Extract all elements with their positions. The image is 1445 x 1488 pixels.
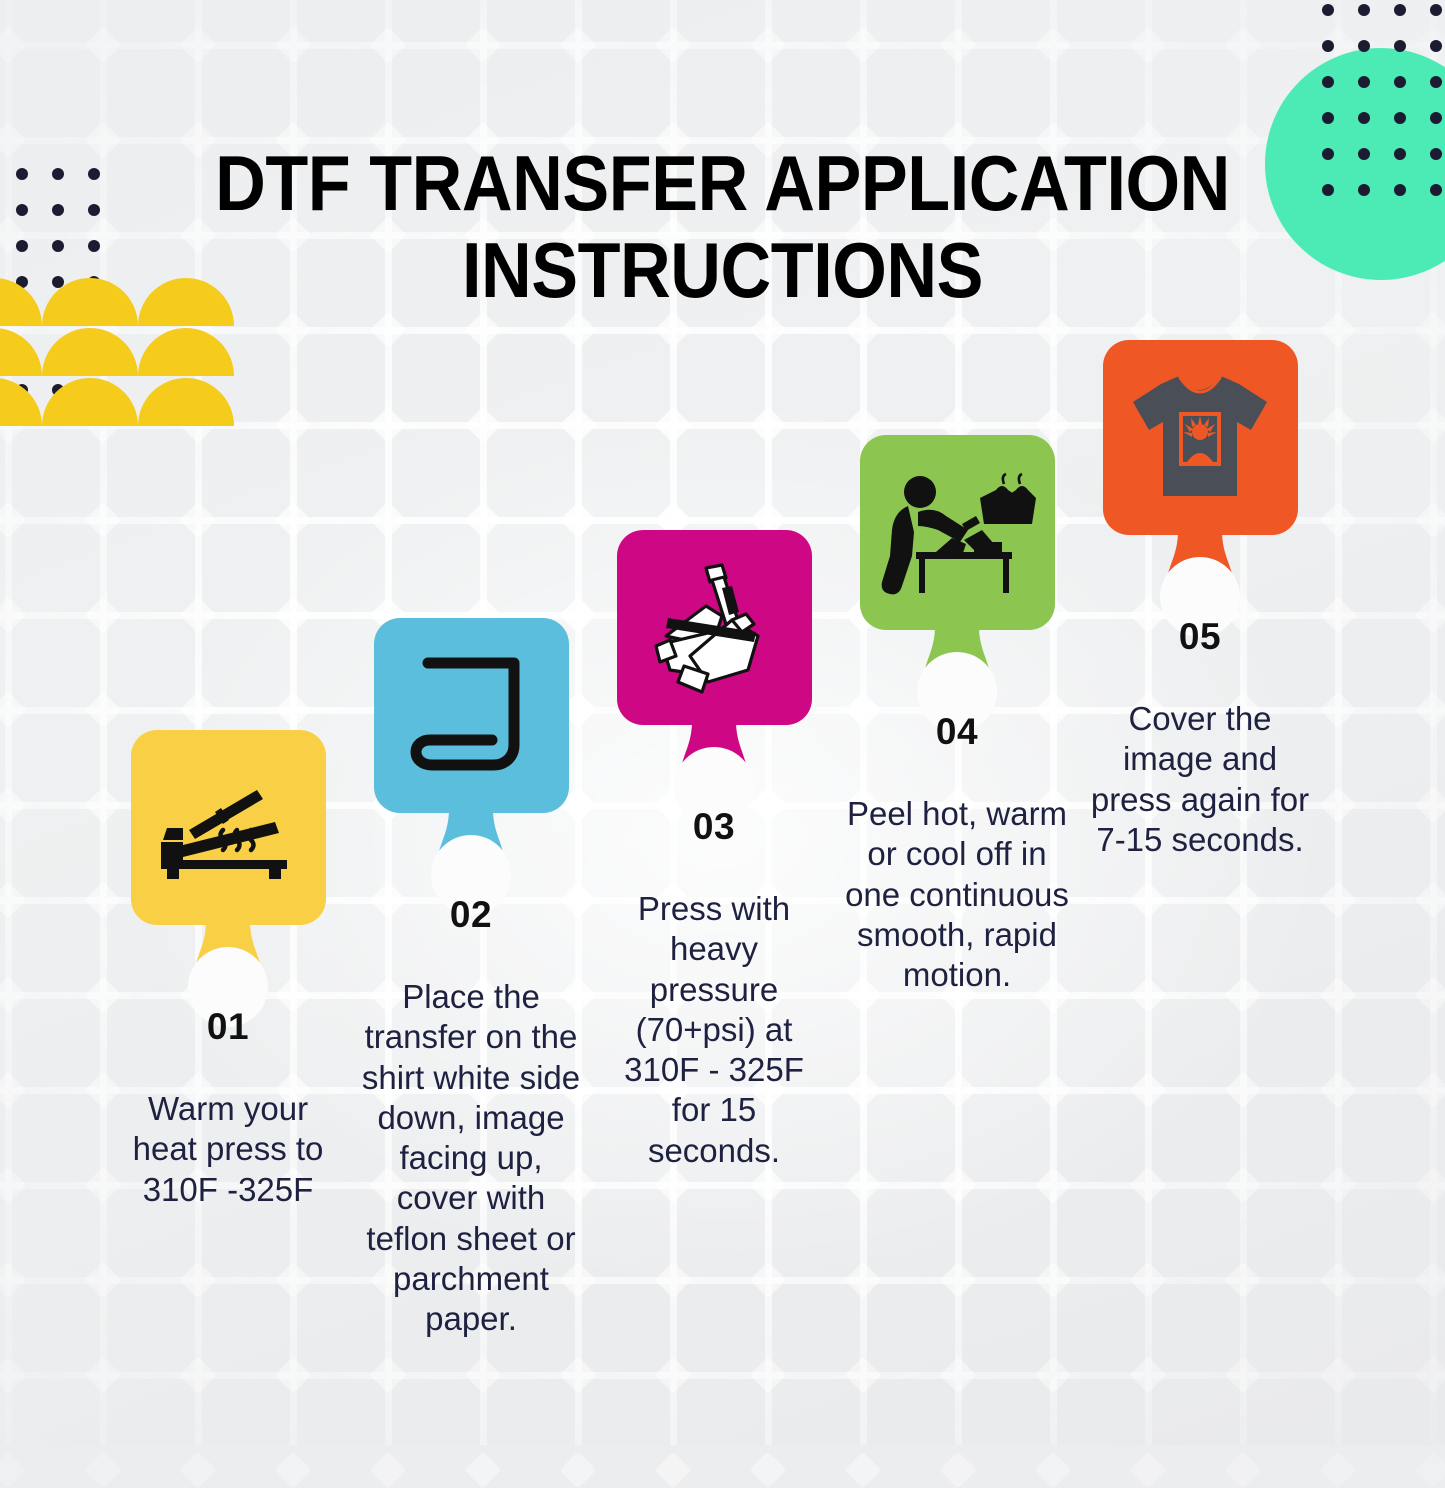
curled-transfer-sheet-icon — [406, 651, 536, 781]
step-card-04[interactable] — [860, 435, 1055, 630]
grid-node-diamond — [940, 1452, 977, 1488]
grid-node-diamond — [750, 1452, 787, 1488]
grid-node-diamond — [85, 1452, 122, 1488]
step-caption-04: Peel hot, warm or cool off in one contin… — [841, 794, 1073, 995]
grid-node-diamond — [1415, 1452, 1445, 1488]
grid-node-diamond — [180, 1452, 217, 1488]
grid-node-diamond — [1320, 1452, 1357, 1488]
heat-press-open-icon — [153, 768, 303, 888]
step-caption-02: Place the transfer on the shirt white si… — [355, 977, 587, 1339]
steps-container: 01 Warm your heat press to 310F -325F 02… — [0, 0, 1445, 1445]
step-badge-02: 02 — [355, 894, 587, 936]
step-item-02: 02 Place the transfer on the shirt white… — [355, 618, 587, 1339]
step-item-04: 04 Peel hot, warm or cool off in one con… — [841, 435, 1073, 995]
step-badge-04: 04 — [841, 711, 1073, 753]
step-badge-01: 01 — [112, 1006, 344, 1048]
step-caption-03: Press with heavy pressure (70+psi) at 31… — [598, 889, 830, 1171]
step-card-05[interactable] — [1103, 340, 1298, 535]
grid-node-diamond — [560, 1452, 597, 1488]
grid-node-diamond — [1130, 1452, 1167, 1488]
step-connector-02: 02 — [355, 809, 587, 961]
step-connector-04: 04 — [841, 626, 1073, 778]
grid-node-diamond — [1225, 1452, 1262, 1488]
grid-node-diamond — [655, 1452, 692, 1488]
grid-node-diamond — [0, 1452, 26, 1488]
step-caption-05: Cover the image and press again for 7-15… — [1084, 699, 1316, 860]
grid-node-diamond — [275, 1452, 312, 1488]
printed-tshirt-icon — [1125, 368, 1275, 508]
step-connector-05: 05 — [1084, 531, 1316, 683]
step-card-01[interactable] — [131, 730, 326, 925]
grid-node-diamond — [370, 1452, 407, 1488]
step-item-03: 03 Press with heavy pressure (70+psi) at… — [598, 530, 830, 1171]
heat-press-pressing-icon — [644, 558, 784, 698]
step-badge-05: 05 — [1084, 616, 1316, 658]
step-badge-03: 03 — [598, 806, 830, 848]
grid-node-diamond — [465, 1452, 502, 1488]
grid-node-diamond — [845, 1452, 882, 1488]
step-connector-01: 01 — [112, 921, 344, 1073]
person-peeling-transfer-icon — [878, 468, 1036, 598]
step-card-03[interactable] — [617, 530, 812, 725]
step-caption-01: Warm your heat press to 310F -325F — [112, 1089, 344, 1210]
grid-node-diamond — [1035, 1452, 1072, 1488]
step-item-01: 01 Warm your heat press to 310F -325F — [112, 730, 344, 1210]
step-item-05: 05 Cover the image and press again for 7… — [1084, 340, 1316, 860]
step-connector-03: 03 — [598, 721, 830, 873]
step-card-02[interactable] — [374, 618, 569, 813]
